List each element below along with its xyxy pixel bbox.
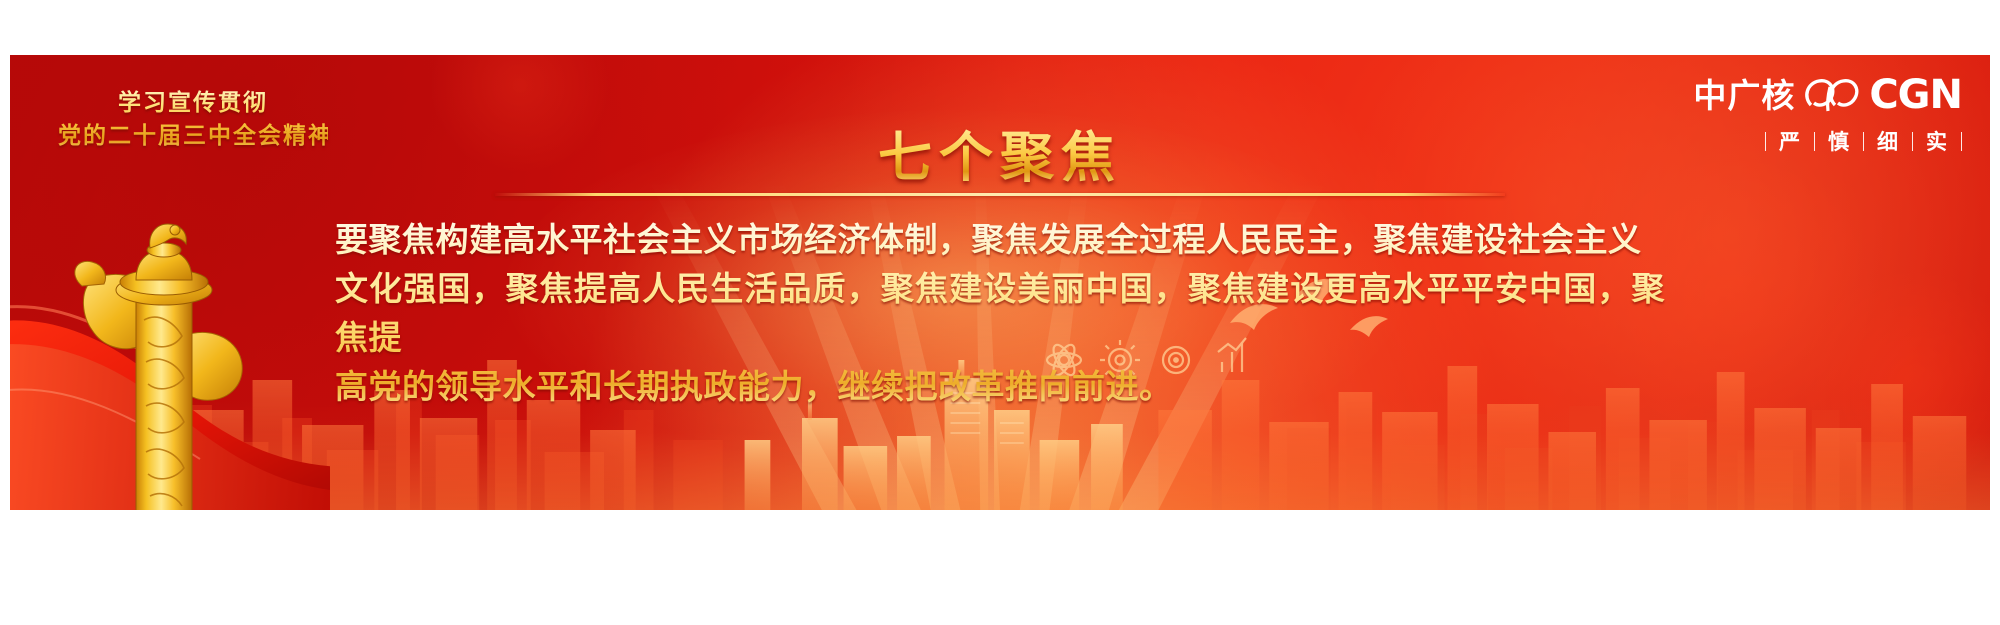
banner-stage: 学习宣传贯彻 党的二十届三中全会精神 七个聚焦 要聚焦构建高水平社会主义市场经济…: [10, 55, 1990, 510]
cgn-value-3: 细: [1864, 126, 1912, 156]
body-text: 要聚焦构建高水平社会主义市场经济体制，聚焦发展全过程人民民主，聚焦建设社会主义 …: [335, 215, 1665, 411]
cgn-logo: 中广核 CGN 严 慎 细 实: [1632, 75, 1962, 156]
value-separator-icon: [1961, 132, 1962, 151]
cgn-logo-row: 中广核 CGN: [1632, 75, 1962, 115]
title-divider: [495, 193, 1505, 196]
cgn-value-4: 实: [1913, 126, 1961, 156]
huabiao-ornamental-column: [18, 170, 318, 510]
cgn-values: 严 慎 细 实: [1632, 126, 1962, 156]
cgn-logo-chinese: 中广核: [1693, 79, 1795, 112]
cgn-swirl-logo-icon: [1801, 75, 1863, 115]
body-text-line3: 高党的领导水平和长期执政能力，继续把改革推向前进。: [335, 362, 1665, 411]
body-text-line2: 文化强国，聚焦提高人民生活品质，聚焦建设美丽中国，聚焦建设更高水平平安中国，聚焦…: [335, 264, 1665, 362]
cgn-logo-english: CGN: [1869, 75, 1962, 115]
propaganda-banner: 学习宣传贯彻 党的二十届三中全会精神 七个聚焦 要聚焦构建高水平社会主义市场经济…: [0, 0, 2000, 625]
cgn-value-1: 严: [1766, 126, 1814, 156]
body-text-line1: 要聚焦构建高水平社会主义市场经济体制，聚焦发展全过程人民民主，聚焦建设社会主义: [335, 215, 1665, 264]
cgn-value-2: 慎: [1815, 126, 1863, 156]
